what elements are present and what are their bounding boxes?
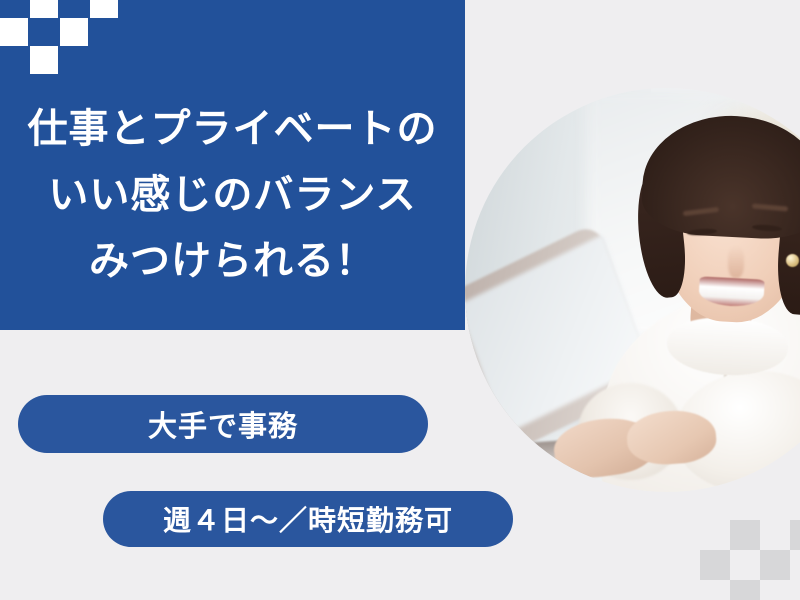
checker-square (760, 550, 790, 580)
checker-pattern-bottom-right-icon (700, 520, 800, 600)
tag-badge-secondary: 週４日〜／時短勤務可 (103, 491, 513, 547)
checker-square (90, 0, 118, 18)
checker-square (0, 18, 28, 46)
headline-panel: 仕事とプライベートの いい感じのバランス みつけられる！ (0, 0, 465, 330)
photo-circle (465, 88, 800, 492)
headline-line-2: いい感じのバランス (0, 162, 465, 228)
checker-square (60, 18, 88, 46)
earring (786, 254, 799, 267)
checker-pattern-top-left-icon (0, 0, 120, 80)
checker-square (790, 520, 800, 550)
checker-square (700, 550, 730, 580)
photo-image (465, 88, 800, 492)
headline-line-3: みつけられる！ (0, 228, 465, 294)
checker-square (730, 580, 760, 600)
checker-square (30, 46, 58, 74)
headline-line-1: 仕事とプライベートの (0, 96, 465, 162)
page-title: 仕事とプライベートの いい感じのバランス みつけられる！ (0, 96, 465, 294)
nose (728, 246, 744, 278)
checker-square (30, 0, 58, 18)
checker-square (730, 520, 760, 550)
tag-badge-primary: 大手で事務 (18, 395, 428, 453)
job-ad-banner: 仕事とプライベートの いい感じのバランス みつけられる！ 大手で事務 週４日〜／… (0, 0, 800, 600)
